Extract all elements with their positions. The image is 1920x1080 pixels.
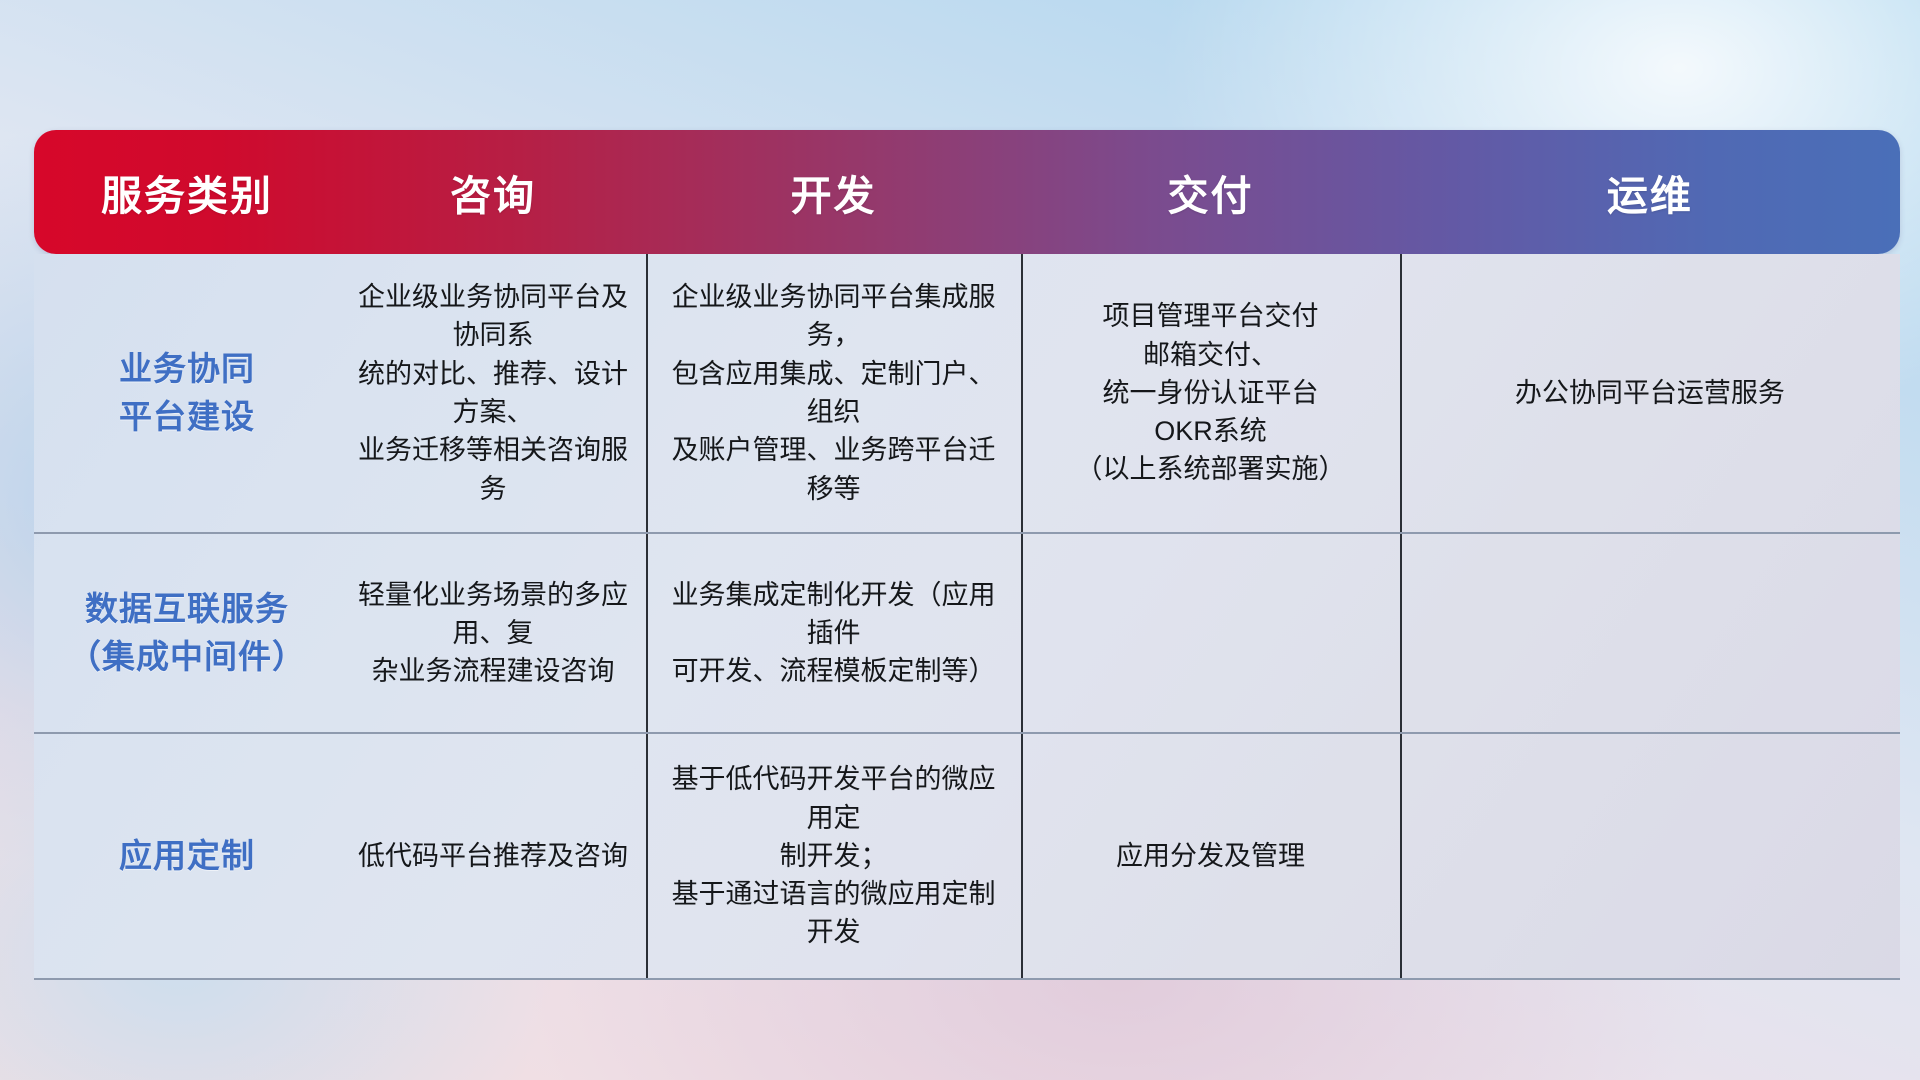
cell-consulting: 轻量化业务场景的多应用、复 杂业务流程建设咨询 (340, 534, 646, 732)
column-header-operations: 运维 (1400, 162, 1900, 222)
cell-consulting: 企业级业务协同平台及协同系 统的对比、推荐、设计方案、 业务迁移等相关咨询服务 (340, 254, 646, 532)
row-category-label: 业务协同 平台建设 (34, 254, 340, 532)
cell-delivery (1021, 534, 1400, 732)
row-category-label: 应用定制 (34, 734, 340, 978)
table-body: 业务协同 平台建设 企业级业务协同平台及协同系 统的对比、推荐、设计方案、 业务… (34, 254, 1900, 980)
table-header-row: 服务类别 咨询 开发 交付 运维 (34, 130, 1900, 254)
cell-development: 业务集成定制化开发（应用插件 可开发、流程模板定制等） (646, 534, 1021, 732)
cell-development: 基于低代码开发平台的微应用定 制开发； 基于通过语言的微应用定制开发 (646, 734, 1021, 978)
service-matrix-table: 服务类别 咨询 开发 交付 运维 业务协同 平台建设 企业级业务协同平台及协同系… (34, 130, 1900, 960)
cell-delivery: 项目管理平台交付 邮箱交付、 统一身份认证平台 OKR系统 （以上系统部署实施） (1021, 254, 1400, 532)
column-header-delivery: 交付 (1021, 162, 1400, 222)
column-header-category: 服务类别 (34, 162, 340, 222)
cell-delivery: 应用分发及管理 (1021, 734, 1400, 978)
column-header-consulting: 咨询 (340, 162, 646, 222)
table-row: 业务协同 平台建设 企业级业务协同平台及协同系 统的对比、推荐、设计方案、 业务… (34, 254, 1900, 534)
cell-operations: 办公协同平台运营服务 (1400, 254, 1900, 532)
table-row: 应用定制 低代码平台推荐及咨询 基于低代码开发平台的微应用定 制开发； 基于通过… (34, 734, 1900, 980)
cell-consulting: 低代码平台推荐及咨询 (340, 734, 646, 978)
cell-development: 企业级业务协同平台集成服务， 包含应用集成、定制门户、组织 及账户管理、业务跨平… (646, 254, 1021, 532)
row-category-label: 数据互联服务 （集成中间件） (34, 534, 340, 732)
cell-operations (1400, 534, 1900, 732)
column-header-development: 开发 (646, 162, 1021, 222)
cell-operations (1400, 734, 1900, 978)
table-row: 数据互联服务 （集成中间件） 轻量化业务场景的多应用、复 杂业务流程建设咨询 业… (34, 534, 1900, 734)
